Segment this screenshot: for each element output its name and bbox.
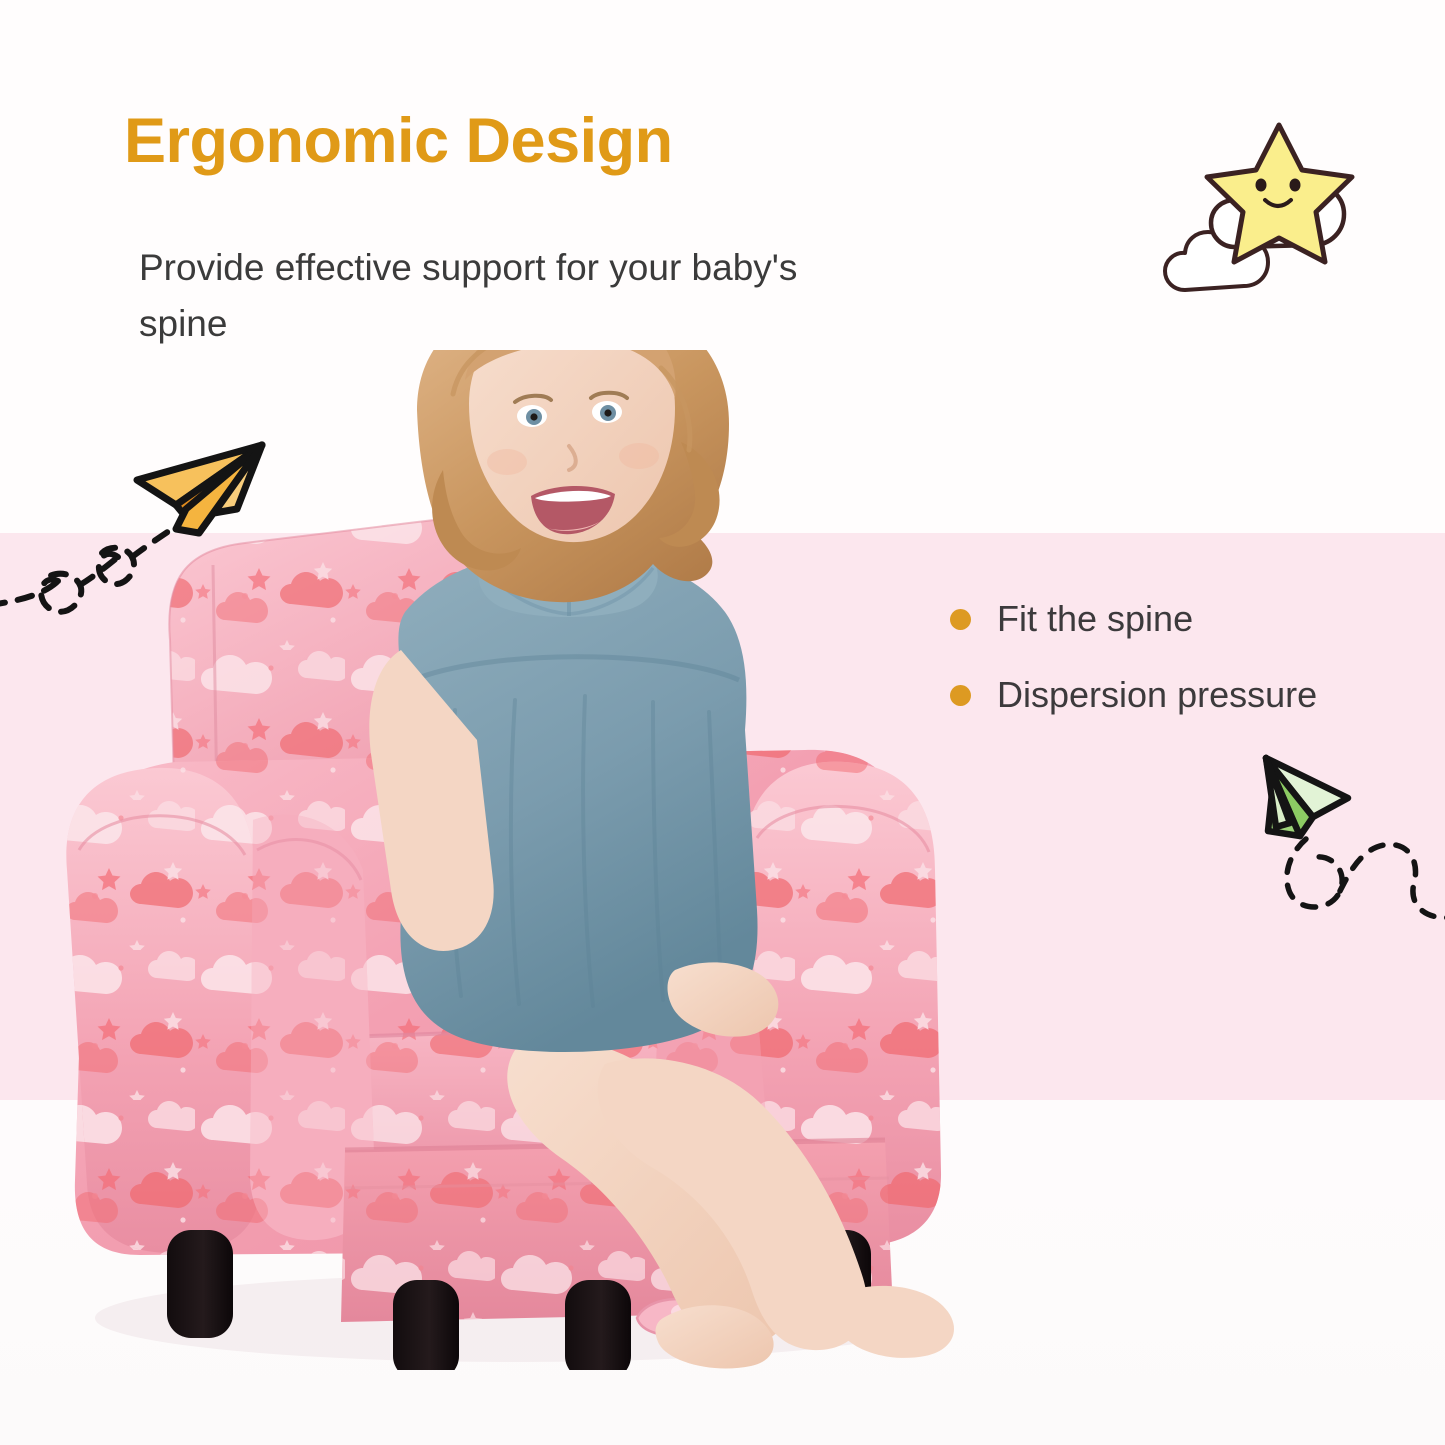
feature-list: Fit the spine Dispersion pressure <box>950 598 1420 750</box>
feature-label: Dispersion pressure <box>997 674 1317 716</box>
list-item: Dispersion pressure <box>950 674 1420 716</box>
smiling-star-with-clouds-icon <box>1155 95 1405 325</box>
product-photo-kids-armchair <box>45 350 1005 1370</box>
page-title: Ergonomic Design <box>124 108 673 174</box>
list-item: Fit the spine <box>950 598 1420 640</box>
green-paper-plane-icon <box>1228 735 1445 945</box>
feature-label: Fit the spine <box>997 598 1193 640</box>
product-banner: Ergonomic Design Provide effective suppo… <box>0 0 1445 1445</box>
page-subtitle: Provide effective support for your baby'… <box>139 240 819 352</box>
